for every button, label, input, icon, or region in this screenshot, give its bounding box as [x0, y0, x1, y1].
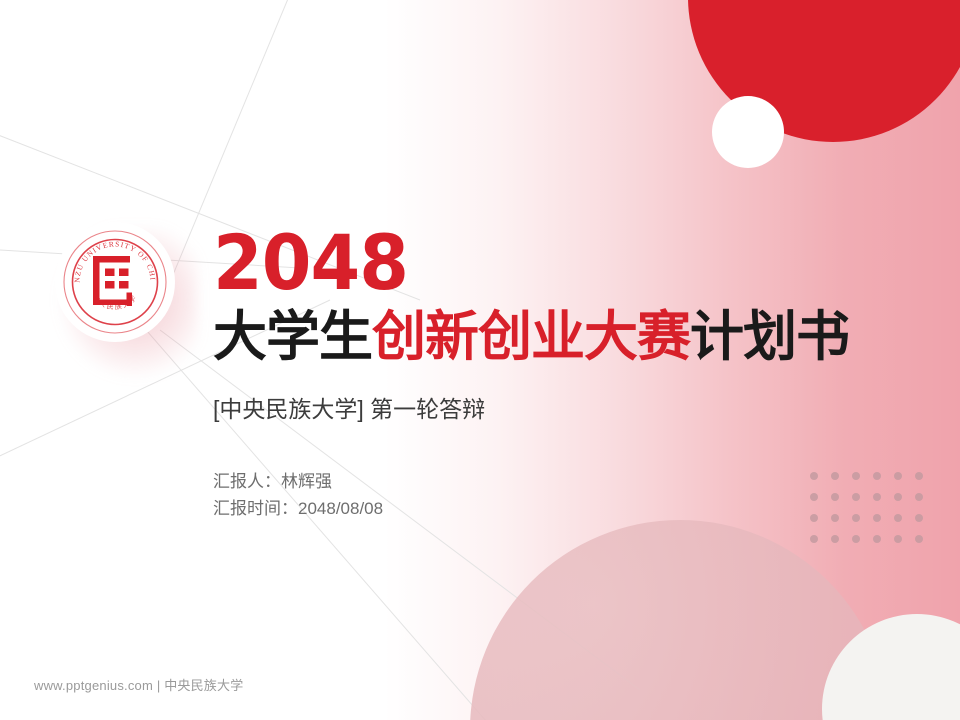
grid-dot [831, 535, 839, 543]
meta-block: 汇报人：林辉强 汇报时间：2048/08/08 [213, 468, 893, 522]
report-date-line: 汇报时间：2048/08/08 [213, 495, 893, 522]
headline-segment-3: 计划书 [690, 307, 849, 367]
dot-grid-decoration [810, 472, 936, 556]
grid-dot [810, 514, 818, 522]
grid-dot [873, 514, 881, 522]
title-block: 2048 大学生创新创业大赛计划书 [中央民族大学] 第一轮答辩 汇报人：林辉强… [213, 222, 893, 522]
grid-dot [894, 535, 902, 543]
grid-dot [831, 493, 839, 501]
grid-dot [810, 493, 818, 501]
grid-dot [831, 514, 839, 522]
grid-dot [915, 514, 923, 522]
footer-text: www.pptgenius.com | 中央民族大学 [34, 675, 243, 694]
grid-dot [810, 472, 818, 480]
grid-dot [852, 493, 860, 501]
subtitle: [中央民族大学] 第一轮答辩 [213, 394, 893, 424]
main-headline: 大学生创新创业大赛计划书 [213, 306, 893, 368]
grid-dot [915, 472, 923, 480]
grid-dot [852, 514, 860, 522]
grid-dot [810, 535, 818, 543]
headline-segment-2: 创新创业大赛 [372, 307, 690, 367]
university-seal-icon: MINZU UNIVERSITY OF CHINA 中央民族大学 [60, 227, 170, 337]
grid-dot [831, 472, 839, 480]
presentation-slide: MINZU UNIVERSITY OF CHINA 中央民族大学 2048 大学… [0, 0, 960, 720]
grid-dot [915, 493, 923, 501]
grid-dot [873, 493, 881, 501]
grid-dot [894, 514, 902, 522]
headline-segment-1: 大学生 [213, 307, 372, 367]
grid-dot [873, 472, 881, 480]
grid-dot [852, 535, 860, 543]
grid-dot [894, 493, 902, 501]
grid-dot [915, 535, 923, 543]
year-heading: 2048 [213, 222, 852, 304]
grid-dot [894, 472, 902, 480]
grid-dot [873, 535, 881, 543]
white-circle-accent [712, 96, 784, 168]
grid-dot [852, 472, 860, 480]
presenter-line: 汇报人：林辉强 [213, 468, 893, 495]
